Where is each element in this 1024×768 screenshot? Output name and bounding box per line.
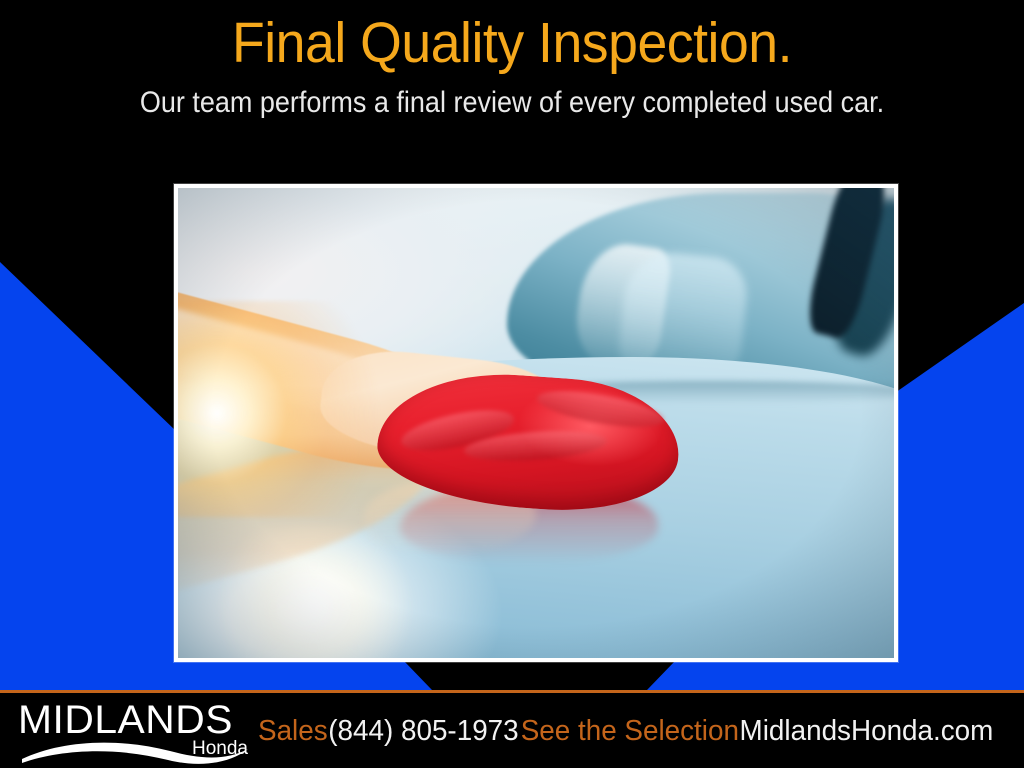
page-title: Final Quality Inspection.: [31, 12, 994, 74]
phone-number[interactable]: (844) 805-1973: [328, 714, 518, 748]
sales-label: Sales: [258, 714, 328, 748]
hero-photo: [178, 188, 894, 658]
selection-label: See the Selection: [521, 714, 739, 748]
logo-swoosh-icon: [20, 735, 260, 765]
page-subtitle: Our team performs a final review of ever…: [51, 86, 973, 120]
footer-bar: MIDLANDS Honda Sales (844) 805-1973 See …: [0, 693, 1024, 768]
hero-photo-frame: [174, 184, 898, 662]
dealer-logo[interactable]: MIDLANDS Honda: [18, 699, 258, 765]
footer-contact-row: Sales (844) 805-1973 See the Selection M…: [258, 693, 993, 768]
photo-vignette: [178, 188, 894, 658]
slide-canvas: Final Quality Inspection. Our team perfo…: [0, 0, 1024, 768]
website-link[interactable]: MidlandsHonda.com: [740, 714, 994, 748]
blue-angle-left: [0, 255, 176, 691]
